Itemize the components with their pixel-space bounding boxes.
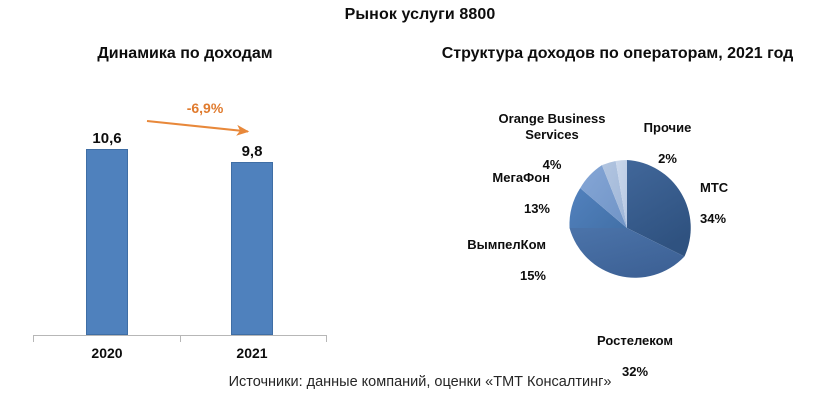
bar-chart-title: Динамика по доходам xyxy=(0,45,370,63)
pie-label-other-name: Прочие xyxy=(644,120,692,135)
page-title: Рынок услуги 8800 xyxy=(0,6,840,24)
pie-label-mts: МТС 34% xyxy=(700,165,810,226)
pie-label-vympelcom: ВымпелКом 15% xyxy=(436,222,546,283)
pie-label-obs-name: Orange Business Services xyxy=(499,111,606,141)
pie-chart-title: Структура доходов по операторам, 2021 го… xyxy=(395,45,840,63)
category-label-2021: 2021 xyxy=(207,345,297,361)
pie-label-rostelecom: Ростелеком 32% xyxy=(560,318,710,379)
bar-value-label-2021: 9,8 xyxy=(207,143,297,160)
bar-2021[interactable] xyxy=(231,162,273,335)
pie-chart-svg xyxy=(549,150,705,306)
growth-rate-label: -6,9% xyxy=(150,100,260,116)
axis-tick-start xyxy=(33,336,34,342)
source-note: Источники: данные компаний, оценки «ТМТ … xyxy=(0,374,840,390)
pie-label-rostelecom-name: Ростелеком xyxy=(597,333,673,348)
slide-canvas: Рынок услуги 8800 Динамика по доходам Ст… xyxy=(0,0,840,403)
bar-value-label-2020: 10,6 xyxy=(62,130,152,147)
pie-label-vympelcom-name: ВымпелКом xyxy=(467,237,546,252)
axis-tick-middle xyxy=(180,336,181,342)
pie-label-megafon-value: 13% xyxy=(524,201,550,216)
axis-tick-end xyxy=(326,336,327,342)
bar-2020[interactable] xyxy=(86,149,128,335)
pie-label-megafon: МегаФон 13% xyxy=(455,155,550,216)
pie-label-megafon-name: МегаФон xyxy=(492,170,550,185)
bar-chart: 10,6 9,8 2020 2021 -6,9% xyxy=(0,80,370,370)
category-label-2020: 2020 xyxy=(62,345,152,361)
pie-label-vympelcom-value: 15% xyxy=(520,268,546,283)
